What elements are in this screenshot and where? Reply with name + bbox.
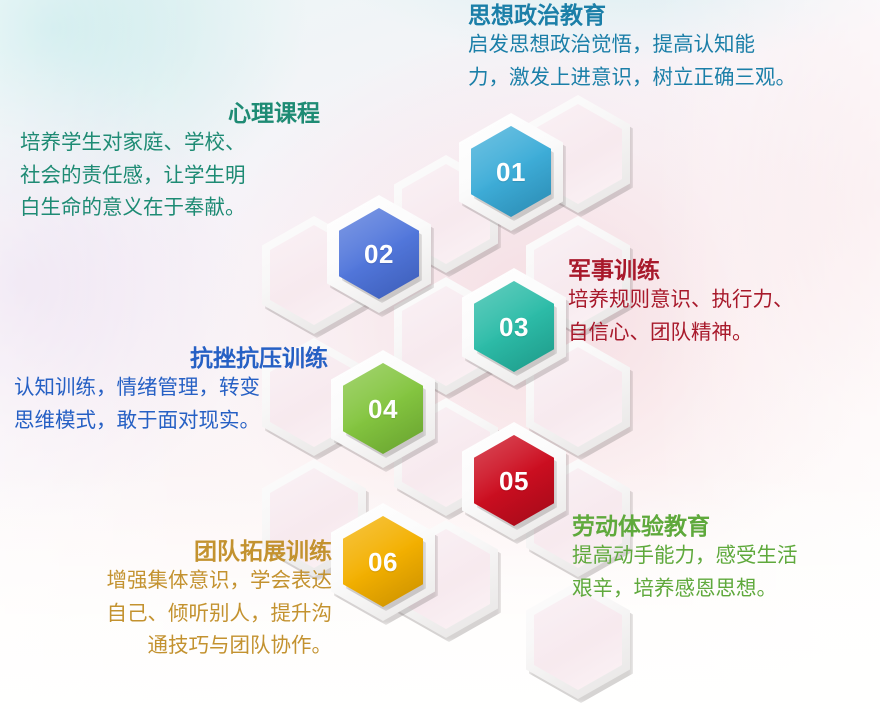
info-description-01: 启发思想政治觉悟，提高认知能力，激发上进意识，树立正确三观。: [468, 29, 868, 94]
info-description-line: 白生命的意义在于奉献。: [20, 192, 320, 224]
info-description-line: 自己、倾听别人，提升沟: [28, 598, 332, 630]
info-description-line: 自信心、团队精神。: [568, 317, 878, 349]
info-title-03: 军事训练: [568, 257, 878, 284]
info-description-line: 培养规则意识、执行力、: [568, 284, 878, 316]
info-title-02: 心理课程: [20, 100, 320, 127]
info-block-03: 军事训练培养规则意识、执行力、自信心、团队精神。: [568, 257, 878, 349]
info-title-01: 思想政治教育: [468, 2, 868, 29]
info-block-05: 劳动体验教育提高动手能力，感受生活艰辛，培养感恩思想。: [572, 513, 880, 605]
info-title-04: 抗挫抗压训练: [14, 345, 328, 372]
info-description-04: 认知训练，情绪管理，转变思维模式，敢于面对现实。: [14, 372, 328, 437]
info-description-line: 思维模式，敢于面对现实。: [14, 405, 328, 437]
info-title-05: 劳动体验教育: [572, 513, 880, 540]
info-description-02: 培养学生对家庭、学校、社会的责任感，让学生明白生命的意义在于奉献。: [20, 127, 320, 224]
info-description-line: 培养学生对家庭、学校、: [20, 127, 320, 159]
info-description-line: 社会的责任感，让学生明: [20, 160, 320, 192]
info-description-line: 认知训练，情绪管理，转变: [14, 372, 328, 404]
info-description-05: 提高动手能力，感受生活艰辛，培养感恩思想。: [572, 540, 880, 605]
info-block-04: 抗挫抗压训练认知训练，情绪管理，转变思维模式，敢于面对现实。: [14, 345, 328, 437]
info-block-02: 心理课程培养学生对家庭、学校、社会的责任感，让学生明白生命的意义在于奉献。: [20, 100, 320, 224]
info-description-line: 提高动手能力，感受生活: [572, 540, 880, 572]
info-description-06: 增强集体意识，学会表达自己、倾听别人，提升沟通技巧与团队协作。: [28, 565, 332, 662]
info-description-line: 艰辛，培养感恩思想。: [572, 573, 880, 605]
info-block-06: 团队拓展训练增强集体意识，学会表达自己、倾听别人，提升沟通技巧与团队协作。: [28, 538, 332, 662]
info-description-line: 增强集体意识，学会表达: [28, 565, 332, 597]
info-block-01: 思想政治教育启发思想政治觉悟，提高认知能力，激发上进意识，树立正确三观。: [468, 2, 868, 94]
info-title-06: 团队拓展训练: [28, 538, 332, 565]
label-layer: 思想政治教育启发思想政治觉悟，提高认知能力，激发上进意识，树立正确三观。心理课程…: [0, 0, 880, 709]
info-description-line: 力，激发上进意识，树立正确三观。: [468, 62, 868, 94]
info-description-03: 培养规则意识、执行力、自信心、团队精神。: [568, 284, 878, 349]
info-description-line: 启发思想政治觉悟，提高认知能: [468, 29, 868, 61]
info-description-line: 通技巧与团队协作。: [28, 630, 332, 662]
